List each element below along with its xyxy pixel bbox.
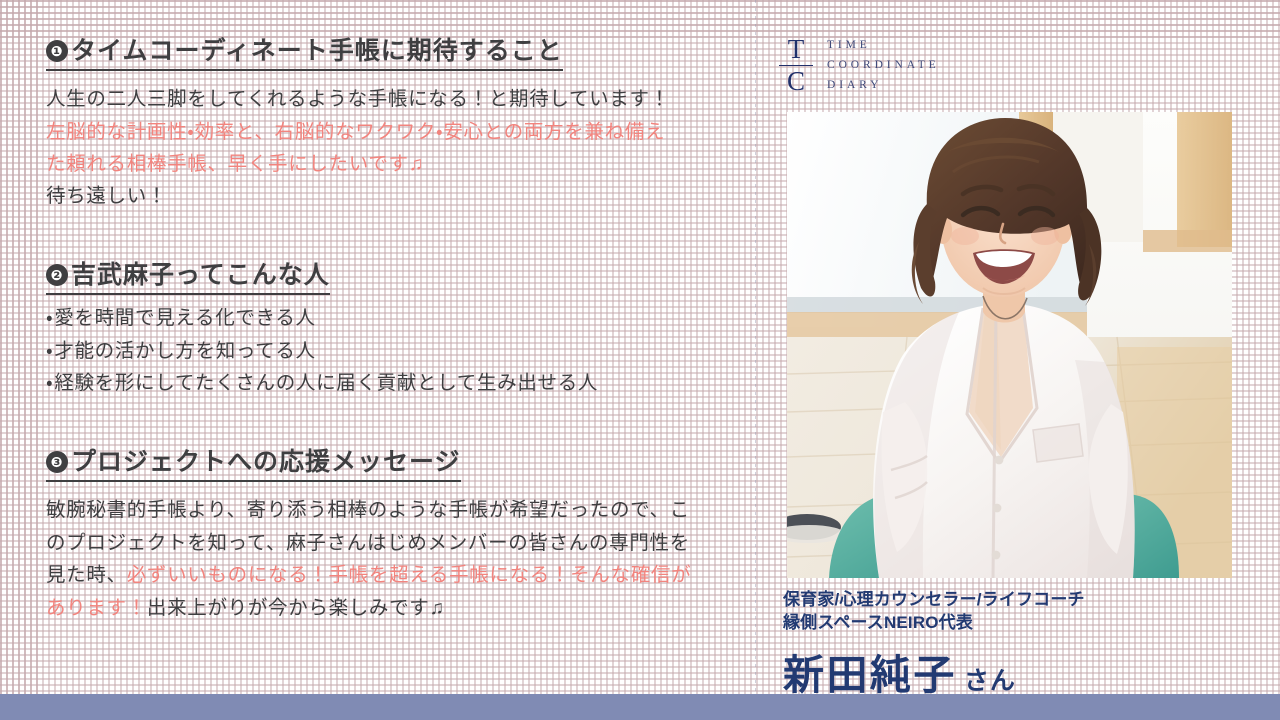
logo-word-diary: DIARY (827, 76, 940, 96)
section-3-number: ❸ (46, 451, 68, 473)
bullet-marker: ・ (46, 372, 53, 394)
section-3-line-4: あります！出来上がりが今から楽しみです♫ (46, 592, 746, 624)
section-1-line-2: 左脳的な計画性・効率と、右脳的なワクワク・安心との両方を兼ね備え (46, 116, 746, 148)
profile-photo (787, 112, 1232, 578)
section-3-line-4-highlight: あります！ (46, 597, 147, 619)
section-3-heading-text: プロジェクトへの応援メッセージ (71, 448, 461, 476)
section-3-line-2: のプロジェクトを知って、麻子さんはじめメンバーの皆さんの専門性を (46, 527, 746, 559)
slide-canvas: ❶タイムコーディネート手帳に期待すること 人生の二人三脚をしてくれるような手帳に… (0, 0, 1280, 720)
profile-photo-illustration (787, 112, 1232, 578)
section-2-heading: ❷吉武麻子ってこんな人 (46, 260, 330, 295)
logo-word-coordinate: COORDINATE (827, 56, 940, 76)
caption-role-line-2: 縁側スペースNEIRO代表 (783, 612, 1085, 635)
list-item-label: 愛を時間で見える化できる人 (54, 307, 315, 329)
section-2-bullet-list: ・愛を時間で見える化できる人 ・才能の活かし方を知ってる人 ・経験を形にしてたく… (46, 302, 746, 400)
bottom-accent-bar (0, 694, 1280, 720)
brand-logo: T C TIME COORDINATE DIARY (779, 36, 940, 95)
section-1-heading: ❶タイムコーディネート手帳に期待すること (46, 36, 563, 71)
caption-name: 新田純子さん (783, 641, 1085, 701)
column-divider (755, 0, 756, 694)
list-item: ・経験を形にしてたくさんの人に届く貢献として生み出せる人 (46, 367, 746, 400)
profile-caption: 保育家/心理カウンセラー/ライフコーチ 縁側スペースNEIRO代表 新田純子さん (783, 589, 1085, 701)
section-3-heading: ❸プロジェクトへの応援メッセージ (46, 447, 461, 482)
section-1-heading-text: タイムコーディネート手帳に期待すること (71, 37, 563, 65)
section-3-line-3-plain: 見た時、 (46, 564, 127, 586)
section-3-line-3: 見た時、必ずいいものになる！手帳を超える手帳になる！そんな確信が (46, 559, 746, 591)
caption-role-line-1: 保育家/心理カウンセラー/ライフコーチ (783, 589, 1085, 612)
logo-monogram-icon: T C (779, 36, 813, 95)
logo-word-time: TIME (827, 36, 940, 56)
content-column: ❶タイムコーディネート手帳に期待すること 人生の二人三脚をしてくれるような手帳に… (46, 36, 746, 624)
section-3-line-4-plain: 出来上がりが今から楽しみです♫ (147, 597, 445, 619)
bullet-marker: ・ (46, 340, 53, 362)
section-1-line-1: 人生の二人三脚をしてくれるような手帳になる！と期待しています！ (46, 83, 746, 115)
logo-wordmark: TIME COORDINATE DIARY (827, 36, 940, 95)
caption-name-suffix: さん (964, 667, 1016, 695)
logo-letter-t: T (779, 36, 813, 65)
section-2-heading-text: 吉武麻子ってこんな人 (71, 261, 330, 289)
bullet-marker: ・ (46, 307, 53, 329)
caption-name-text: 新田純子 (783, 652, 957, 698)
section-2-number: ❷ (46, 264, 68, 286)
section-1-line-4: 待ち遠しい！ (46, 180, 746, 212)
list-item-label: 才能の活かし方を知ってる人 (54, 340, 315, 362)
section-1-number: ❶ (46, 40, 68, 62)
section-1-line-3: た頼れる相棒手帳、早く手にしたいです♫ (46, 148, 746, 180)
section-3: ❸プロジェクトへの応援メッセージ 敏腕秘書的手帳より、寄り添う相棒のような手帳が… (46, 447, 746, 624)
list-item-label: 経験を形にしてたくさんの人に届く貢献として生み出せる人 (54, 372, 598, 394)
section-1: ❶タイムコーディネート手帳に期待すること 人生の二人三脚をしてくれるような手帳に… (46, 36, 746, 213)
list-item: ・才能の活かし方を知ってる人 (46, 335, 746, 368)
section-3-line-1: 敏腕秘書的手帳より、寄り添う相棒のような手帳が希望だったので、こ (46, 494, 746, 526)
list-item: ・愛を時間で見える化できる人 (46, 302, 746, 335)
section-2: ❷吉武麻子ってこんな人 ・愛を時間で見える化できる人 ・才能の活かし方を知ってる… (46, 260, 746, 401)
logo-letter-c: C (779, 66, 813, 95)
section-3-line-3-highlight: 必ずいいものになる！手帳を超える手帳になる！そんな確信が (127, 564, 692, 586)
